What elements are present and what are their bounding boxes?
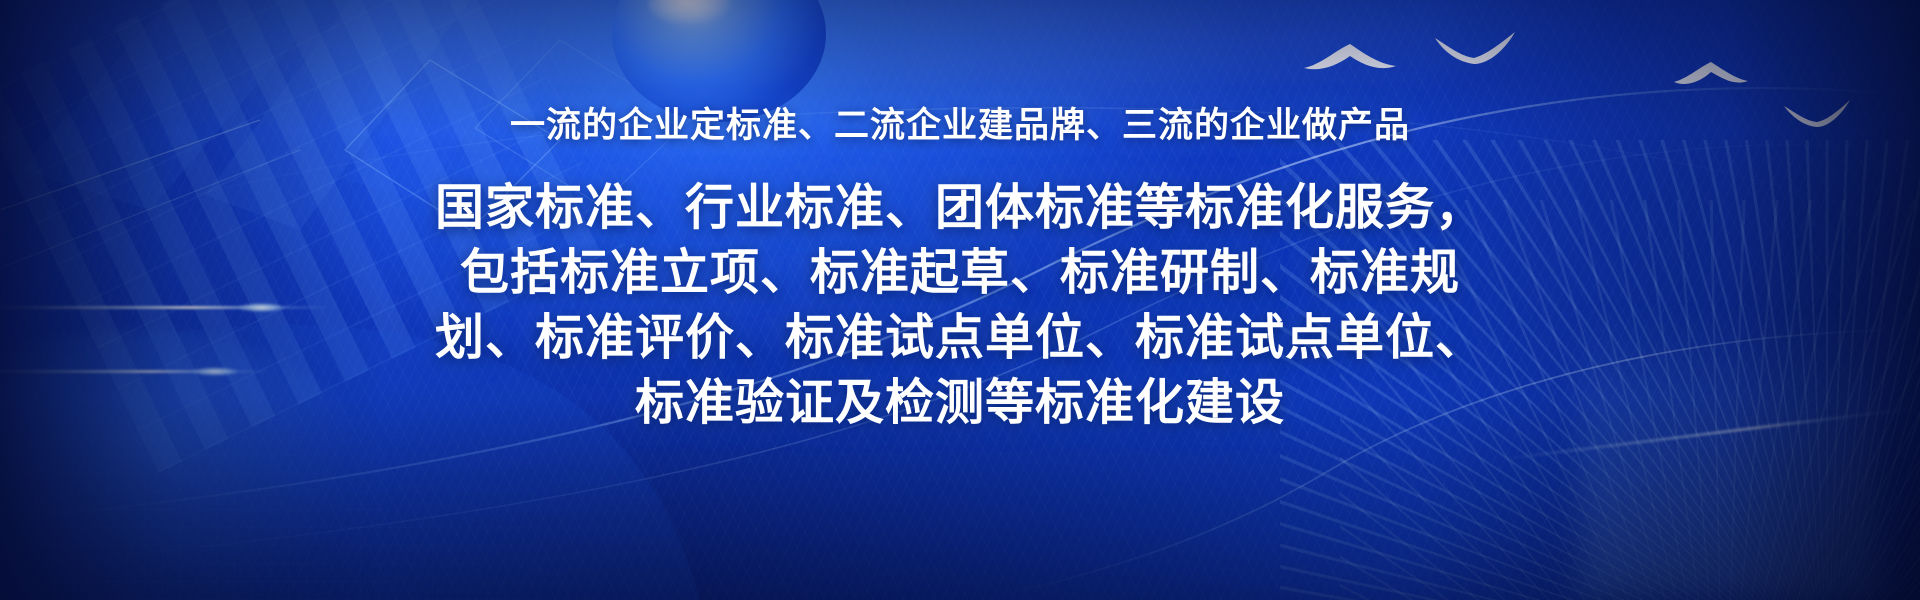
banner-text-block: 一流的企业定标准、二流企业建品牌、三流的企业做产品 国家标准、行业标准、团体标准… bbox=[0, 104, 1920, 436]
banner-subheadline: 国家标准、行业标准、团体标准等标准化服务，包括标准立项、标准起草、标准研制、标准… bbox=[430, 176, 1490, 437]
seagull-icon bbox=[1672, 58, 1750, 92]
seagull-icon bbox=[1432, 26, 1518, 66]
hero-banner: 一流的企业定标准、二流企业建品牌、三流的企业做产品 国家标准、行业标准、团体标准… bbox=[0, 0, 1920, 600]
seagull-icon bbox=[1300, 38, 1400, 80]
banner-headline: 一流的企业定标准、二流企业建品牌、三流的企业做产品 bbox=[0, 104, 1920, 148]
